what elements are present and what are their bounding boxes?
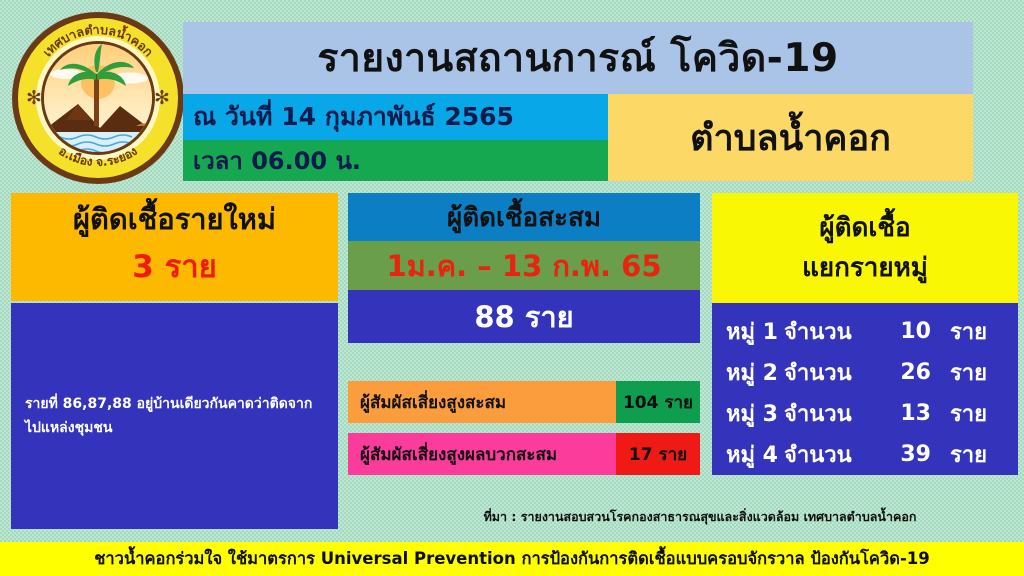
village-amount-label: จำนวน xyxy=(784,355,879,390)
village-amount-label: จำนวน xyxy=(784,314,879,349)
village-count: 39 xyxy=(879,442,931,467)
village-breakdown-list: หมู่ 1 จำนวน 10 ราย หมู่ 2 จำนวน 26 ราย … xyxy=(712,303,1018,475)
prevention-banner: ชาวน้ำคอกร่วมใจ ใช้มาตรการ Universal Pre… xyxy=(0,542,1024,576)
report-title: รายงานสถานการณ์ โควิด-19 xyxy=(183,22,973,94)
high-risk-positive-value: 17 ราย xyxy=(616,433,700,475)
village-unit: ราย xyxy=(931,396,993,431)
high-risk-contacts-value: 104 ราย xyxy=(616,381,700,423)
village-amount-label: จำนวน xyxy=(784,396,879,431)
village-name: หมู่ 4 xyxy=(726,437,784,472)
village-count: 13 xyxy=(879,401,931,426)
municipal-seal-logo: เทศบาลตำบลน้ำคอก อ.เมือง จ.ระยอง ✻ ✻ xyxy=(8,8,188,188)
asterisk-left-icon: ✻ xyxy=(26,87,42,109)
new-cases-heading: ผู้ติดเชื้อรายใหม่ xyxy=(73,203,276,236)
village-name: หมู่ 1 xyxy=(726,314,784,349)
new-cases-note: รายที่ 86,87,88 อยู่บ้านเดียวกันคาดว่าติ… xyxy=(11,303,338,529)
cumulative-date-range: 1ม.ค. – 13 ก.พ. 65 xyxy=(348,241,700,290)
new-cases-panel: ผู้ติดเชื้อรายใหม่ 3 ราย xyxy=(11,193,338,301)
infographic-canvas: เทศบาลตำบลน้ำคอก อ.เมือง จ.ระยอง ✻ ✻ ราย… xyxy=(0,0,1024,576)
village-count: 10 xyxy=(879,319,931,344)
source-note: ที่มา : รายงานสอบสวนโรคกองสาธารณสุขและสิ… xyxy=(400,505,1000,529)
village-name: หมู่ 2 xyxy=(726,355,784,390)
village-unit: ราย xyxy=(931,437,993,472)
subdistrict-name: ตำบลน้ำคอก xyxy=(608,94,973,181)
village-count: 26 xyxy=(879,360,931,385)
report-date: ณ วันที่ 14 กุมภาพันธ์ 2565 xyxy=(183,94,608,140)
cumulative-heading: ผู้ติดเชื้อสะสม xyxy=(348,193,700,241)
village-heading-line1: ผู้ติดเชื้อ xyxy=(819,208,910,248)
village-unit: ราย xyxy=(931,314,993,349)
village-unit: ราย xyxy=(931,355,993,390)
village-amount-label: จำนวน xyxy=(784,437,879,472)
high-risk-positive-label: ผู้สัมผัสเสี่ยงสูงผลบวกสะสม xyxy=(348,433,616,475)
cumulative-total: 88 ราย xyxy=(348,290,700,343)
village-row: หมู่ 4 จำนวน 39 ราย xyxy=(726,434,1018,475)
village-row: หมู่ 2 จำนวน 26 ราย xyxy=(726,352,1018,393)
village-row: หมู่ 1 จำนวน 10 ราย xyxy=(726,311,1018,352)
village-name: หมู่ 3 xyxy=(726,396,784,431)
village-row: หมู่ 3 จำนวน 13 ราย xyxy=(726,393,1018,434)
asterisk-right-icon: ✻ xyxy=(154,87,170,109)
new-cases-count: 3 ราย xyxy=(132,241,217,291)
village-breakdown-heading: ผู้ติดเชื้อ แยกรายหมู่ xyxy=(712,193,1018,303)
village-heading-line2: แยกรายหมู่ xyxy=(802,248,928,288)
report-time: เวลา 06.00 น. xyxy=(183,140,608,181)
high-risk-contacts-label: ผู้สัมผัสเสี่ยงสูงสะสม xyxy=(348,381,616,423)
seal-icon: เทศบาลตำบลน้ำคอก อ.เมือง จ.ระยอง ✻ ✻ xyxy=(8,8,188,188)
